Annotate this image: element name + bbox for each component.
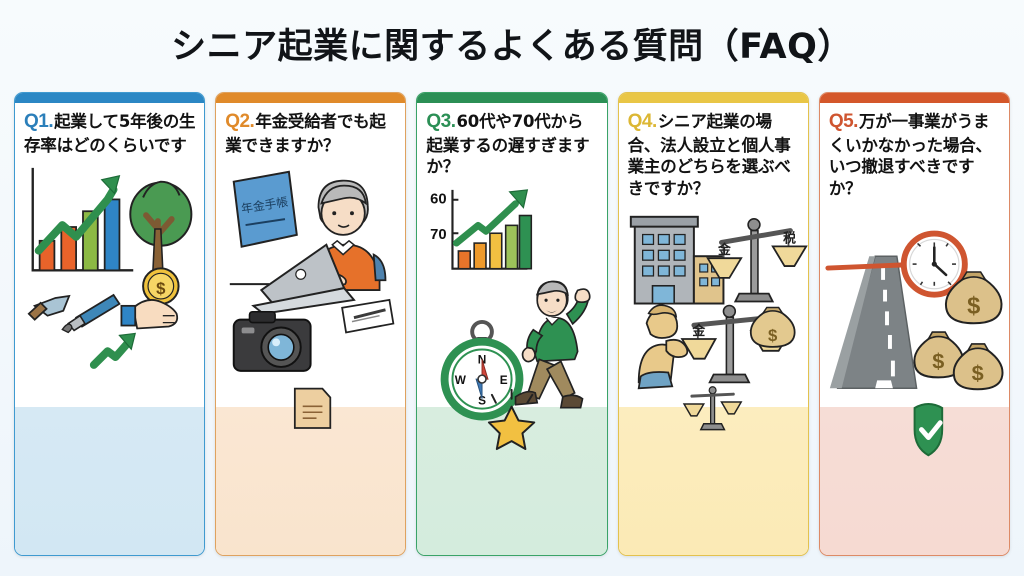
svg-text:$: $ [156,279,166,298]
card-accent-bar [216,93,405,103]
card-accent-bar [619,93,808,103]
card-accent-bar [15,93,204,103]
compass-label-e: E [500,373,508,387]
question-text-q3: Q3.60代や70代から起業するの遅すぎますか？ [417,103,606,182]
illustration-svg-q5: $ $ $ [820,203,1009,465]
balance-scale-icon-2: 金 $ [682,305,795,382]
illustration-q4: 金 税 [619,203,808,555]
compass-label-w: W [455,373,467,387]
faq-card-q3[interactable]: Q3.60代や70代から起業するの遅すぎますか？ 60 70 [416,92,607,556]
tree-icon [130,182,191,271]
faq-card-q2[interactable]: Q2.年金受給者でも起業できますか？ 年金手帳 [215,92,406,556]
chart-axis-label-60: 60 [431,191,447,207]
page-header: シニア起業に関するよくある質問（FAQ） [0,0,1024,86]
faq-card-q5[interactable]: Q5.万が一事業がうまくいかなかった場合、いつ撤退すべきですか？ [819,92,1010,556]
small-scale-icon [684,387,741,430]
question-text-q2: Q2.年金受給者でも起業できますか？ [216,103,405,160]
illustration-svg-q4: 金 税 [619,203,808,438]
question-text-q1: Q1.起業して5年後の生存率はどのくらいです [15,103,204,160]
thinker-statue-icon [638,305,687,388]
compass-icon: N W E S [445,321,520,416]
scale-label-kane: 金 [717,242,731,258]
pension-book-icon: 年金手帳 [234,172,297,247]
question-label-q4: Q4. [628,111,657,132]
illustration-q2: 年金手帳 [216,160,405,555]
camera-icon [234,312,311,371]
trowel-icon [29,296,69,320]
illustration-q1: $ [15,160,204,555]
question-label-q5: Q5. [829,111,858,132]
card-tint-panel [15,407,204,555]
shield-check-icon [914,404,942,455]
document-icon [295,389,330,428]
illustration-svg-q3: 60 70 N W [417,182,606,456]
question-label-q1: Q1. [24,111,53,132]
card-accent-bar [820,93,1009,103]
faq-card-q4[interactable]: Q4.シニア起業の場合、法人設立と個人事業主のどちらを選ぶべきですか？ [618,92,809,556]
notebook-pen-icon [342,300,393,333]
illustration-svg-q2: 年金手帳 [216,160,405,434]
green-up-arrow-icon [94,334,135,366]
question-label-q3: Q3. [426,111,455,132]
paintbrush-icon [62,295,119,332]
hand-holding-coin-icon: $ [121,269,178,329]
card-accent-bar [417,93,606,103]
money-bag-symbol-2: $ [932,349,944,374]
money-bag-symbol-1: $ [967,293,980,319]
question-text-q5: Q5.万が一事業がうまくいかなかった場合、いつ撤退すべきですか？ [820,103,1009,203]
illustration-q5: $ $ $ [820,203,1009,555]
bar-chart-growth-icon [33,168,134,270]
money-bag-symbol: $ [768,326,778,345]
illustration-q3: 60 70 N W [417,182,606,555]
walking-senior-man-icon [516,281,590,407]
faq-card-q1[interactable]: Q1.起業して5年後の生存率はどのくらいです [14,92,205,556]
chart-axis-label-70: 70 [431,227,447,243]
scale-label-kane-2: 金 [691,323,705,339]
page-title: シニア起業に関するよくある質問（FAQ） [171,18,853,69]
illustration-svg-q1: $ [15,160,204,416]
money-bag-icon: $ [750,307,794,346]
bar-chart-growth-icon: 60 70 [431,189,532,268]
question-text-q4: Q4.シニア起業の場合、法人設立と個人事業主のどちらを選ぶべきですか？ [619,103,808,203]
faq-card-row: Q1.起業して5年後の生存率はどのくらいです [14,92,1010,556]
question-label-q2: Q2. [225,111,254,132]
scale-label-zei: 税 [783,230,796,246]
money-bag-symbol-3: $ [971,360,983,385]
